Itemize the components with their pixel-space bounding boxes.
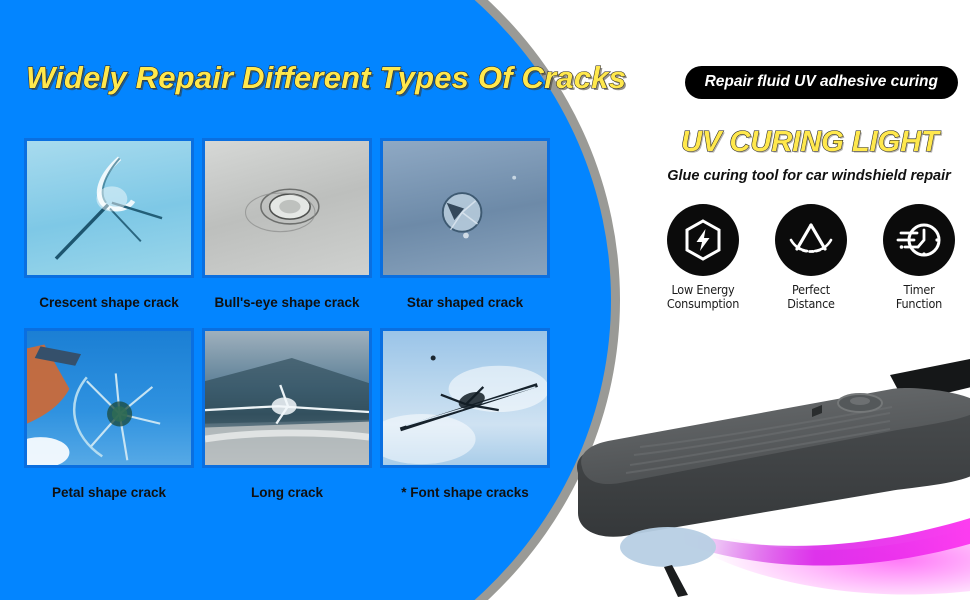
petal-crack-graphic [27,331,191,466]
product-marketing-banner: Widely Repair Different Types Of Cracks … [0,0,970,600]
page-title: Widely Repair Different Types Of Cracks [26,60,626,96]
status-badge: Repair fluid UV adhesive curing [685,66,958,99]
feature-label-line2: Function [871,297,967,311]
font-shape-crack-photo [380,328,550,468]
suction-cup-stem [664,565,688,597]
gallery-item: Star shaped crack [380,138,550,328]
feature-icon-disc [883,204,955,276]
feature-label: Timer Function [871,283,967,311]
gallery-item: * Font shape cracks [380,328,550,518]
gallery-item-caption: * Font shape cracks [380,468,550,518]
clock-speed-icon [895,216,943,264]
gallery-item-caption: Bull's-eye shape crack [202,278,372,328]
product-title: UV CURING LIGHT [655,126,965,159]
crescent-crack-graphic [27,141,191,276]
gallery-item: Crescent shape crack [24,138,194,328]
feature-label-line1: Perfect [763,283,859,297]
uv-curing-light-device [560,355,970,600]
feature-icon-disc [775,204,847,276]
crack-type-gallery: Crescent shape crack Bull's-eye shape cr… [24,138,550,518]
feature-perfect-distance: Perfect Distance [763,204,859,311]
feature-low-energy: Low Energy Consumption [655,204,751,311]
gallery-item: Bull's-eye shape crack [202,138,372,328]
feature-icon-disc [667,204,739,276]
feature-label: Low Energy Consumption [655,283,751,311]
device-knob-center [850,397,870,405]
hexagon-lightning-icon [680,217,726,263]
long-crack-photo [202,328,372,468]
product-subtitle: Glue curing tool for car windshield repa… [650,168,968,184]
feature-label-line1: Low Energy [655,283,751,297]
gallery-item-caption: Star shaped crack [380,278,550,328]
distance-arc-icon [787,216,835,264]
gallery-item-caption: Long crack [202,468,372,518]
star-crack-graphic [383,141,547,276]
gallery-item-caption: Crescent shape crack [24,278,194,328]
device-illustration [560,355,970,600]
feature-label-line2: Consumption [655,297,751,311]
petal-crack-photo [24,328,194,468]
suction-cup [620,527,716,567]
star-crack-photo [380,138,550,278]
feature-label-line1: Timer [871,283,967,297]
feature-label: Perfect Distance [763,283,859,311]
font-shape-crack-graphic [383,331,547,466]
crescent-crack-photo [24,138,194,278]
gallery-item: Long crack [202,328,372,518]
bullseye-crack-graphic [205,141,369,276]
bullseye-crack-photo [202,138,372,278]
gallery-item: Petal shape crack [24,328,194,518]
feature-list: Low Energy Consumption Perfect Distance [655,204,967,311]
feature-timer: Timer Function [871,204,967,311]
gallery-item-caption: Petal shape crack [24,468,194,518]
long-crack-graphic [205,331,369,466]
feature-label-line2: Distance [763,297,859,311]
